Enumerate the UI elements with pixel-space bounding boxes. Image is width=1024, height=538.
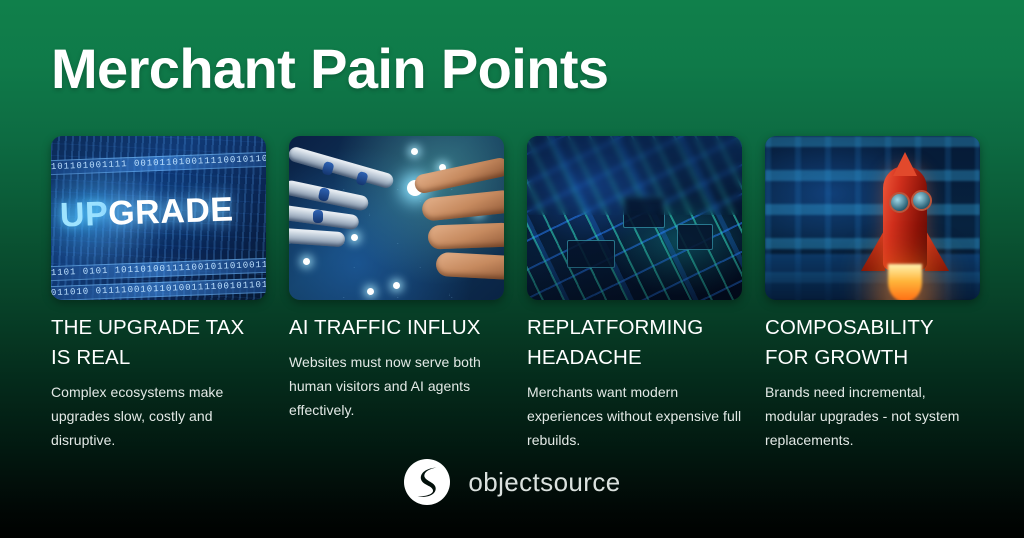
robot-joint (321, 161, 334, 176)
card-body: Merchants want modern experiences withou… (527, 380, 742, 452)
card-thumbnail (289, 136, 504, 300)
robot-finger (289, 205, 360, 231)
objectsource-swirl-logo-icon (403, 458, 451, 506)
card-heading: REPLATFORMING HEADACHE (527, 313, 742, 373)
rocket-flame (888, 264, 922, 300)
card-heading: COMPOSABILITY FOR GROWTH (765, 313, 980, 373)
depth-blur-top (527, 136, 742, 215)
robot-finger (289, 228, 345, 248)
rocket-porthole (889, 192, 910, 213)
robot-human-hands-touching-icon (289, 136, 504, 300)
network-node (367, 288, 374, 295)
robot-joint (355, 171, 368, 186)
circuit-board-macro-icon (527, 136, 742, 300)
human-finger (421, 189, 504, 221)
card-upgrade-tax[interactable]: 00101101001111 0010110100111100101101001… (51, 136, 266, 452)
upgrade-word-glow: UP (59, 195, 109, 235)
robot-joint (313, 210, 323, 223)
footer-logo: objectsource (0, 458, 1024, 506)
rocket-body (883, 166, 927, 270)
upgrade-word: UPGRADE (59, 190, 260, 236)
card-composability[interactable]: COMPOSABILITY FOR GROWTH Brands need inc… (765, 136, 980, 452)
card-thumbnail (527, 136, 742, 300)
card-ai-traffic[interactable]: AI TRAFFIC INFLUX Websites must now serv… (289, 136, 504, 452)
card-body: Brands need incremental, modular upgrade… (765, 380, 980, 452)
rocket-porthole (911, 190, 932, 211)
card-heading: THE UPGRADE TAX IS REAL (51, 313, 266, 373)
depth-blur-bottom (527, 238, 742, 300)
human-finger (428, 223, 504, 250)
rocket-nose-cone (893, 152, 917, 176)
pain-point-cards: 00101101001111 0010110100111100101101001… (51, 136, 973, 452)
card-replatforming[interactable]: REPLATFORMING HEADACHE Merchants want mo… (527, 136, 742, 452)
card-body: Complex ecosystems make upgrades slow, c… (51, 380, 266, 452)
page-title: Merchant Pain Points (51, 38, 608, 100)
upgrade-binary-graphic-icon: 00101101001111 0010110100111100101101001… (51, 136, 266, 300)
human-hand (398, 164, 504, 286)
card-body: Websites must now serve both human visit… (289, 350, 504, 422)
human-finger (435, 252, 504, 280)
brand-name: objectsource (468, 467, 620, 498)
slide-canvas: Merchant Pain Points 00101101001111 0010… (0, 0, 1024, 538)
card-thumbnail (765, 136, 980, 300)
upgrade-word-plain: GRADE (108, 190, 235, 232)
rocket-launch-digital-icon (765, 136, 980, 300)
card-heading: AI TRAFFIC INFLUX (289, 313, 504, 343)
card-thumbnail: 00101101001111 0010110100111100101101001… (51, 136, 266, 300)
